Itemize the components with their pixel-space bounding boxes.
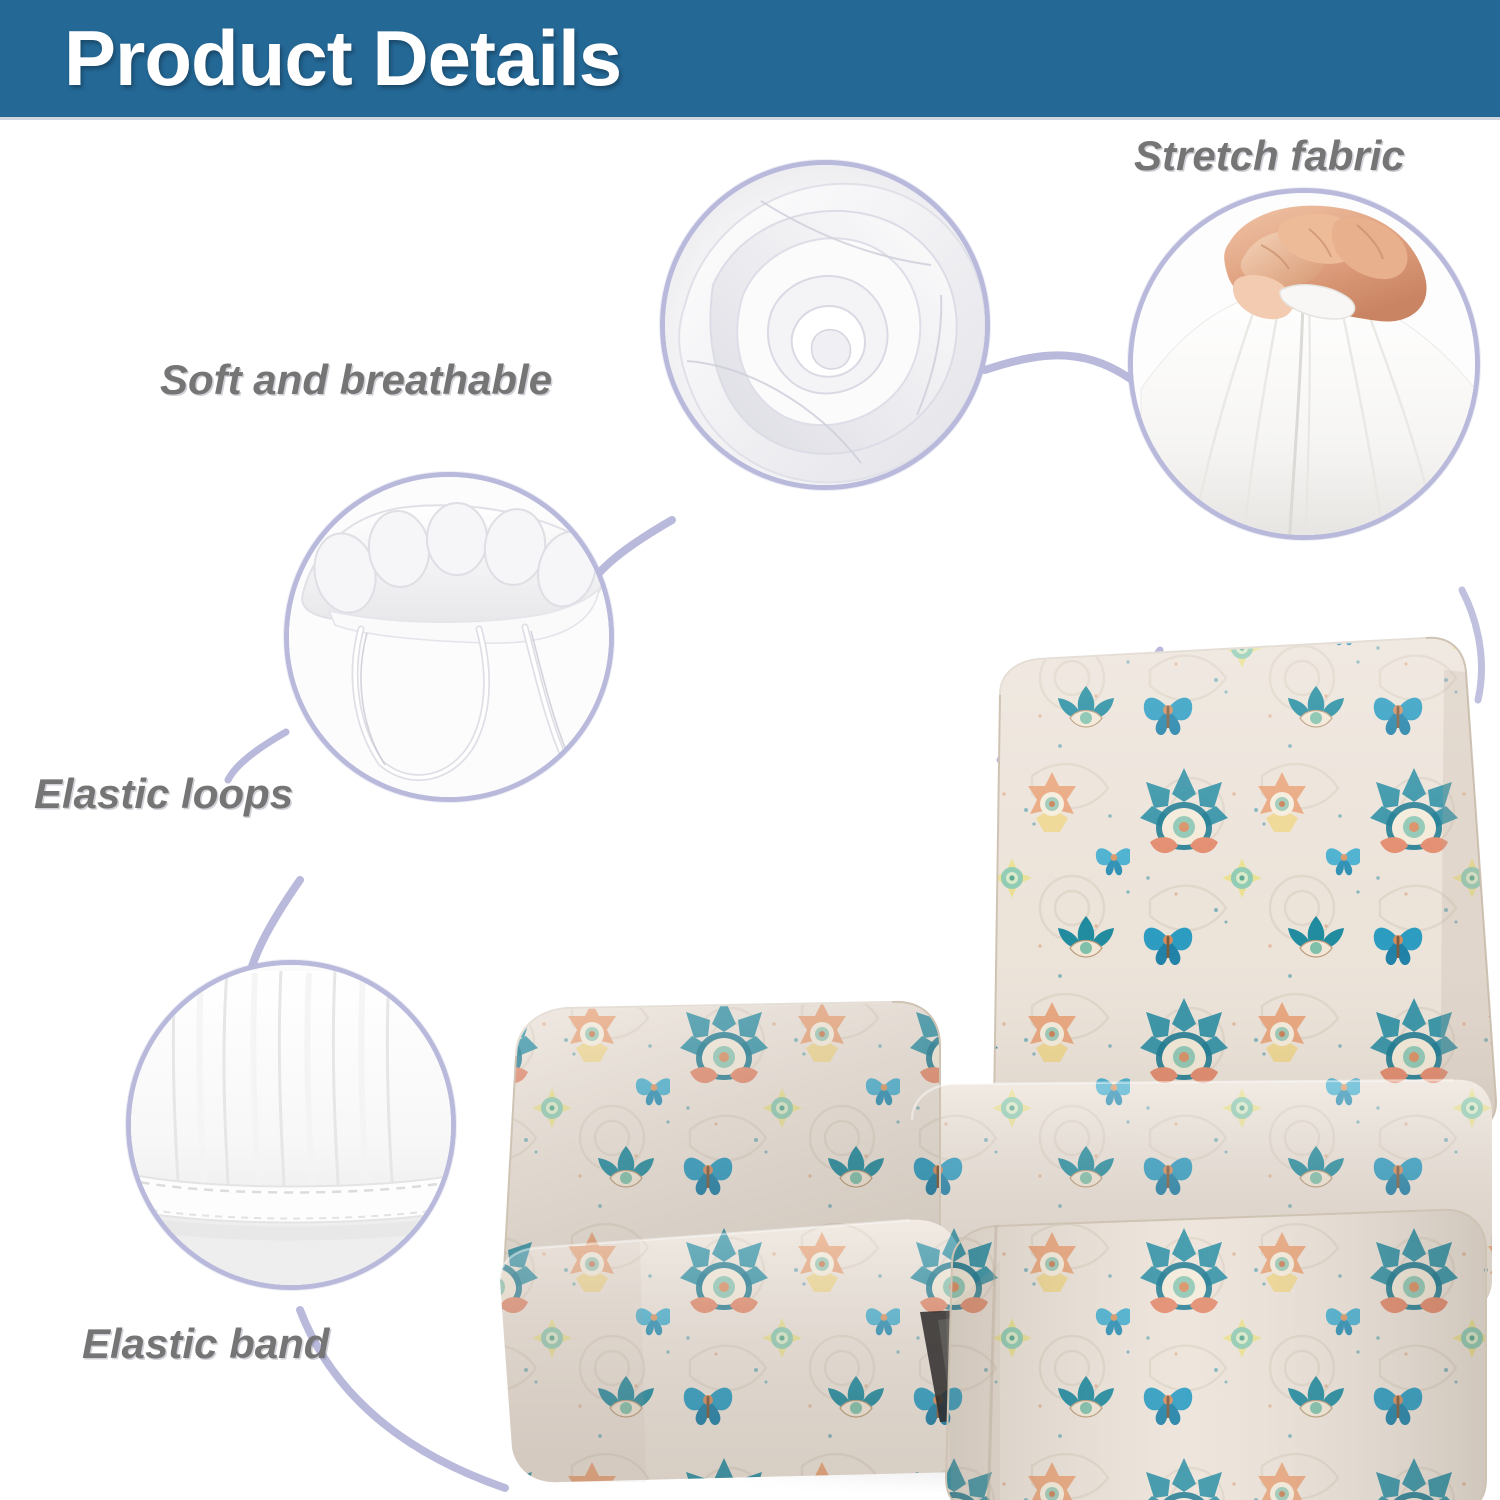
callout-stretch-fabric[interactable] xyxy=(1128,188,1480,540)
page-title: Product Details xyxy=(64,13,621,104)
fabric-swirl-icon xyxy=(665,165,985,485)
callout-soft-breathable[interactable] xyxy=(660,160,990,490)
elastic-band-icon xyxy=(131,965,451,1285)
infographic-stage: Soft and breathable xyxy=(0,120,1500,1500)
label-soft-breathable: Soft and breathable xyxy=(160,356,552,404)
chair-backrest xyxy=(994,638,1496,1138)
label-elastic-loops: Elastic loops xyxy=(34,770,293,818)
label-elastic-band: Elastic band xyxy=(82,1320,329,1368)
page-header-banner: Product Details xyxy=(0,0,1500,120)
callout-elastic-band[interactable] xyxy=(126,960,456,1290)
label-stretch-fabric: Stretch fabric xyxy=(1134,132,1405,180)
chair-front-skirt xyxy=(946,1210,1486,1500)
hand-stretching-fabric-icon xyxy=(1133,193,1475,535)
recliner-slipcover-image xyxy=(440,520,1500,1500)
